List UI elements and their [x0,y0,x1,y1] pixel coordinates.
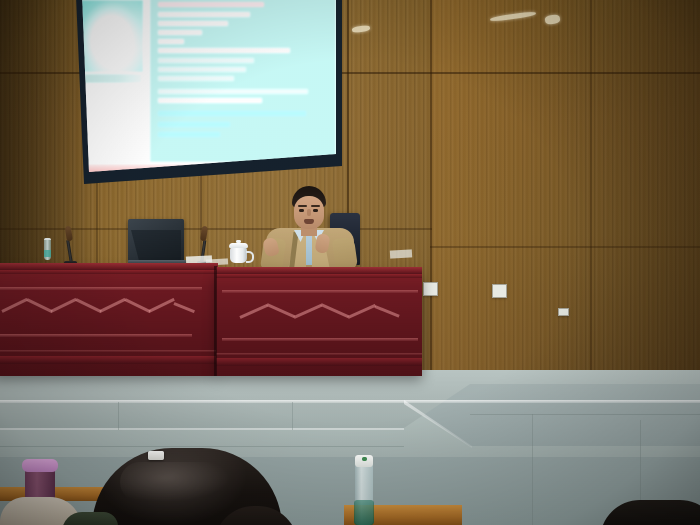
wall-seam-vertical [590,0,592,382]
speaker-eye-right [313,209,318,212]
stage-edge-highlight [0,400,700,403]
wall-seam-horizontal [430,246,700,248]
wall-seam-vertical [430,0,432,378]
projection-screen [80,0,336,172]
podium-left-lip [0,270,218,274]
audience-hair-sheen [120,462,230,502]
floor-seam [0,446,404,447]
teacup [230,247,247,263]
podium-section-seam [214,266,217,376]
podium-right-moulding [216,353,422,355]
floor-seam [470,414,700,415]
floor-seam [292,402,293,430]
teacup-handle [246,251,254,263]
lecture-hall-photo [0,0,700,525]
podium-right-base [216,358,422,366]
water-bottle-label [44,250,51,257]
wall-highlight-right [430,0,700,390]
podium-right-moulding [222,290,418,293]
papers-right [390,249,412,258]
floor-seam [532,414,533,525]
teacup-lid [229,243,248,248]
wall-outlet-right [492,284,507,298]
floor-seam [118,402,119,430]
podium-left-moulding [0,287,202,290]
laptop-screen [131,230,181,261]
speaker-brow-left [298,205,307,207]
wall-outlet-left [423,282,438,296]
speaker-mouth [304,219,314,224]
podium-left-moulding [0,350,218,352]
water-bottle-foreground-label [354,500,374,525]
slide-photo-caption [82,74,142,83]
wall-floor-marker [558,308,569,316]
hair-clip [148,451,164,460]
slide-text-block [150,0,336,162]
teacup-knob [236,240,241,243]
presentation-slide [80,0,336,172]
speaker-brow-right [311,205,320,207]
speaker-eye-left [299,209,304,212]
podium-left-base [0,356,218,364]
thermos-cup-lid [22,459,58,472]
water-bottle-cap-mark [362,457,367,461]
podium-left-top [0,263,218,270]
podium-right-moulding [222,338,418,341]
speaker-nose [307,209,311,216]
slide-photo [81,0,143,72]
podium-left-moulding [0,334,192,337]
podium-right-top [216,267,422,274]
podium-right-lip [216,274,422,278]
stage-step-highlight [0,428,404,430]
